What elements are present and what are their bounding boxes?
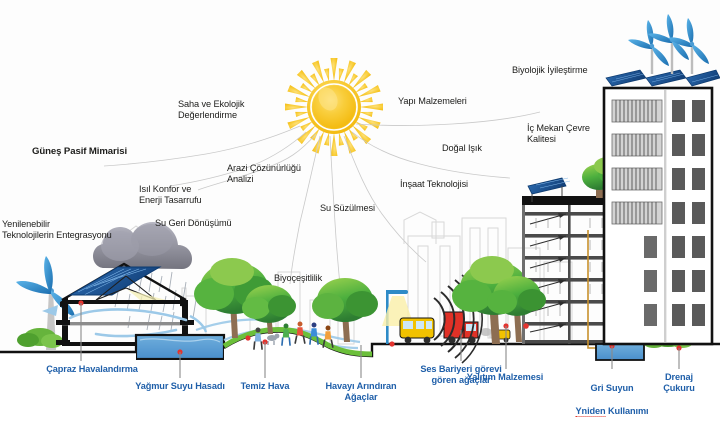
label-biological-remediation: Biyolojik İyileştirme: [512, 65, 588, 76]
solar-panel-array-tower: [606, 70, 720, 86]
label-building-materials: Yapı Malzemeleri: [398, 96, 467, 107]
label-solar-passive-architecture: Güneş Pasif Mimarisi: [32, 146, 127, 157]
misspelled-word: Yniden: [576, 406, 606, 417]
label-insulation-material: Yalıtım Malzemesi: [467, 372, 543, 383]
label-water-filtration: Su Süzülmesi: [320, 203, 375, 214]
label-clean-air: Temiz Hava: [241, 381, 290, 392]
label-natural-light: Doğal Işık: [442, 143, 482, 154]
solar-panel-array-house: [70, 267, 160, 295]
label-renewable-tech-integration: Yenilenebilir Teknolojilerin Entegrasyon…: [2, 219, 112, 242]
label-cross-ventilation: Çapraz Havalandırma: [46, 364, 138, 375]
greywater-line-1: Gri Suyun: [590, 383, 633, 393]
label-greywater-reuse: Gri Suyun Yniden Kullanımı: [576, 372, 649, 417]
label-air-purifying-trees: Havayı Arındıran Ağaçlar: [325, 381, 396, 403]
label-site-ecological-assessment: Saha ve Ekolojik Değerlendirme: [178, 99, 244, 122]
label-rainwater-harvesting: Yağmur Suyu Hasadı: [135, 381, 225, 392]
label-thermal-comfort-energy-saving: Isıl Konfor ve Enerji Tasarrufu: [139, 184, 202, 207]
residential-high-rise: [604, 14, 720, 344]
rooftop-wind-turbines: [628, 14, 709, 74]
tree-mid: [312, 278, 378, 342]
label-water-recycling: Su Geri Dönüşümü: [155, 218, 232, 229]
infographic-canvas: Güneş Pasif Mimarisi Yenilenebilir Tekno…: [0, 0, 720, 427]
city-bus: [400, 318, 434, 343]
greywater-tank: [596, 343, 644, 360]
label-indoor-environmental-quality: İç Mekan Çevre Kalitesi: [527, 123, 590, 146]
label-drainage-pit: Drenaj Çukuru: [659, 372, 700, 394]
greywater-word: Kullanımı: [608, 406, 648, 416]
sun-icon: [285, 58, 383, 156]
label-biodiversity: Biyoçeşitlilik: [274, 273, 322, 284]
house-cutaway: [42, 264, 206, 346]
label-land-resolution-analysis: Arazi Çözünürlüğü Analizi: [227, 163, 301, 186]
label-construction-technology: İnşaat Teknolojisi: [400, 179, 468, 190]
